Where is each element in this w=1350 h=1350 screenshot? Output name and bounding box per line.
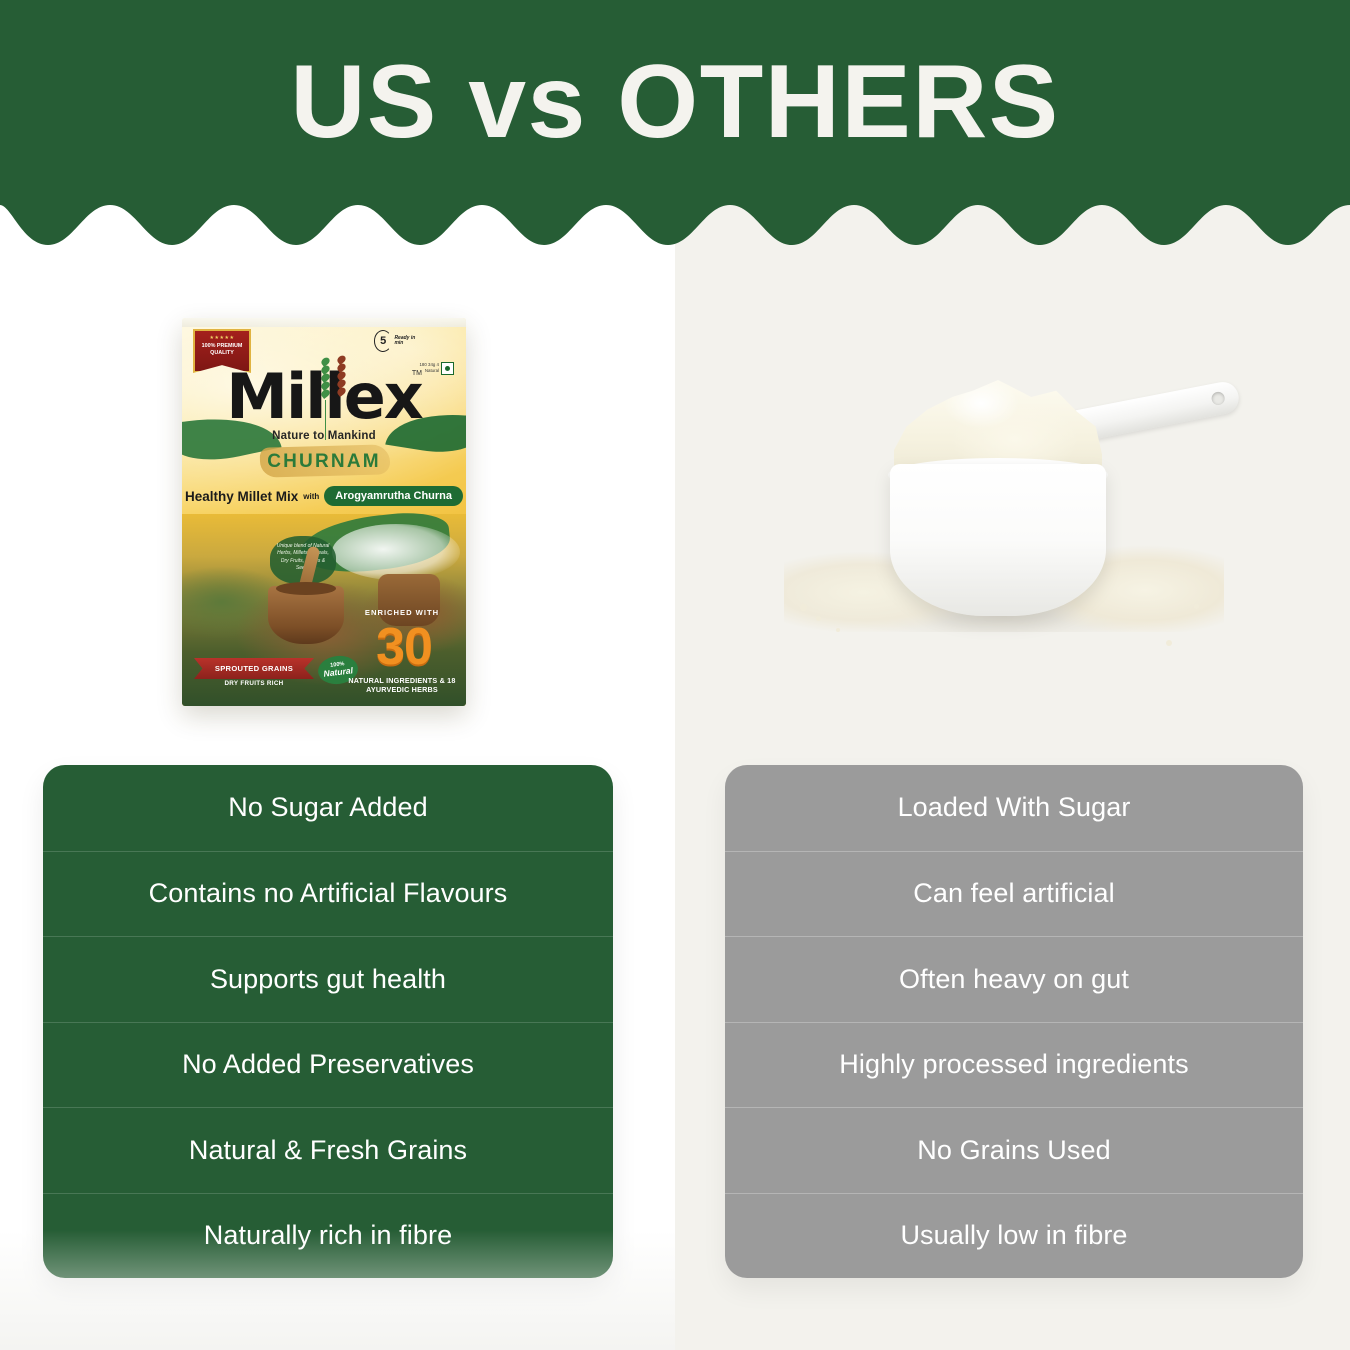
- wheat-stalk-brown-icon: [335, 354, 347, 428]
- powder-speck: [1166, 640, 1172, 646]
- others-item-row: Often heavy on gut: [725, 936, 1303, 1022]
- us-benefits-panel: No Sugar Added Contains no Artificial Fl…: [43, 765, 613, 1278]
- powder-speck: [1194, 604, 1199, 609]
- us-item-row: Natural & Fresh Grains: [43, 1107, 613, 1193]
- cream-splash-icon: [332, 524, 460, 580]
- enriched-with-label: ENRICHED WITH: [348, 608, 456, 617]
- infographic-canvas: US vs OTHERS ★★★★★ 100% PREMIUM QUALITY …: [0, 0, 1350, 1350]
- powder-speck: [800, 604, 807, 611]
- badge-stars: ★★★★★: [210, 336, 235, 341]
- powder-speck: [816, 616, 821, 621]
- product-package-image: ★★★★★ 100% PREMIUM QUALITY 5 Ready in mi…: [182, 318, 466, 706]
- us-item-row: No Added Preservatives: [43, 1022, 613, 1108]
- others-drawbacks-panel: Loaded With Sugar Can feel artificial Of…: [725, 765, 1303, 1278]
- others-item-row: Loaded With Sugar: [725, 765, 1303, 851]
- us-item-row: Supports gut health: [43, 936, 613, 1022]
- mix-with: with: [303, 492, 319, 501]
- product-description-line: Healthy Millet Mix with Arogyamrutha Chu…: [182, 486, 466, 506]
- us-item-row: Naturally rich in fibre: [43, 1193, 613, 1279]
- mix-text: Healthy Millet Mix: [185, 489, 298, 504]
- churna-pill: Arogyamrutha Churna: [324, 486, 463, 506]
- us-item-row: Contains no Artificial Flavours: [43, 851, 613, 937]
- ready-label: Ready in min: [394, 336, 420, 347]
- others-item-row: Can feel artificial: [725, 851, 1303, 937]
- others-item-row: Highly processed ingredients: [725, 1022, 1303, 1108]
- dry-fruits-label: DRY FRUITS RICH: [194, 680, 314, 687]
- badge-label: 100% PREMIUM QUALITY: [195, 343, 249, 356]
- variant-name: CHURNAM: [182, 451, 466, 473]
- others-item-row: Usually low in fibre: [725, 1193, 1303, 1279]
- enriched-detail-label: NATURAL INGREDIENTS & 18 AYURVEDIC HERBS: [346, 676, 458, 695]
- clock-arc-icon: 5: [374, 330, 392, 352]
- sprouted-grains-ribbon: SPROUTED GRAINS: [194, 658, 314, 679]
- powder-speck: [836, 628, 840, 632]
- trademark-symbol: TM: [412, 370, 422, 377]
- scoop-cup: [890, 464, 1106, 616]
- ready-in-minutes-badge: 5 Ready in min: [374, 328, 420, 354]
- brand-tagline: Nature to Mankind: [182, 430, 466, 442]
- title-us: US: [290, 44, 437, 160]
- page-title: US vs OTHERS: [0, 44, 1350, 160]
- mortar-bowl-icon: [268, 586, 344, 644]
- powder-scoop-image: [770, 372, 1250, 658]
- others-item-row: No Grains Used: [725, 1107, 1303, 1193]
- header-banner: US vs OTHERS: [0, 0, 1350, 252]
- title-vs: vs: [468, 44, 587, 160]
- enriched-count: 30: [350, 624, 458, 672]
- title-others: OTHERS: [617, 44, 1059, 160]
- us-item-row: No Sugar Added: [43, 765, 613, 851]
- wheat-stalk-green-icon: [319, 356, 331, 430]
